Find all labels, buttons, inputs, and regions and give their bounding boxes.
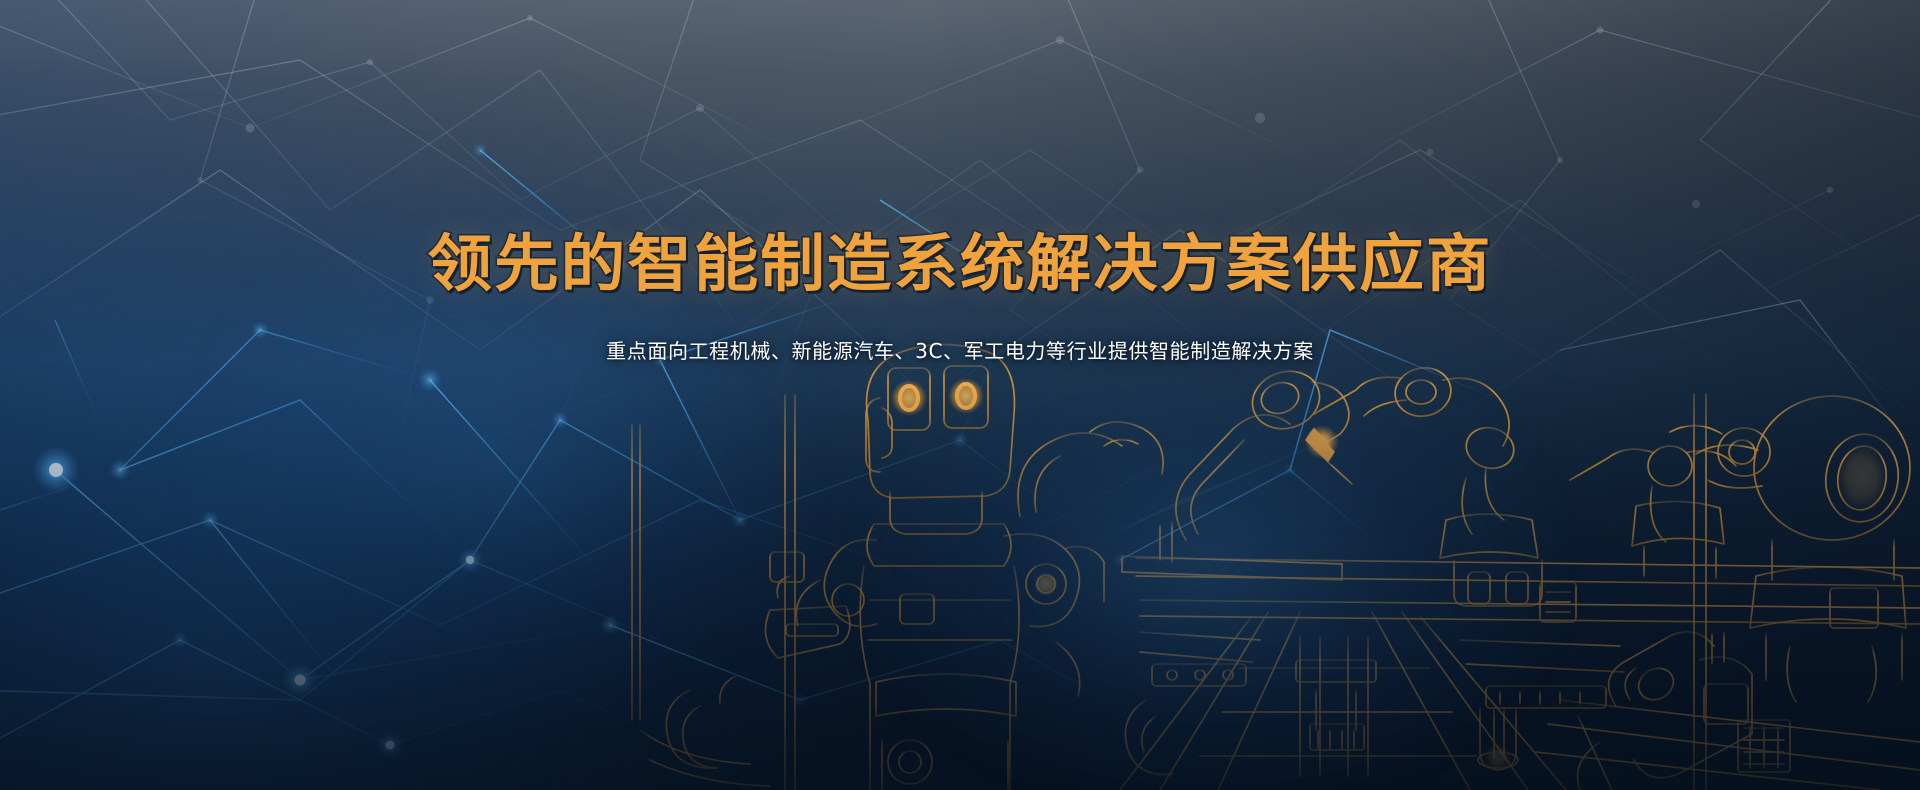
page-title: 领先的智能制造系统解决方案供应商 xyxy=(0,232,1920,295)
hero-subtitle: 重点面向工程机械、新能源汽车、3C、军工电力等行业提供智能制造解决方案 xyxy=(0,295,1920,365)
hero-copy: 领先的智能制造系统解决方案供应商 重点面向工程机械、新能源汽车、3C、军工电力等… xyxy=(0,232,1920,365)
hero-banner: 领先的智能制造系统解决方案供应商 重点面向工程机械、新能源汽车、3C、军工电力等… xyxy=(0,0,1920,790)
background-glow-center xyxy=(860,380,1560,790)
